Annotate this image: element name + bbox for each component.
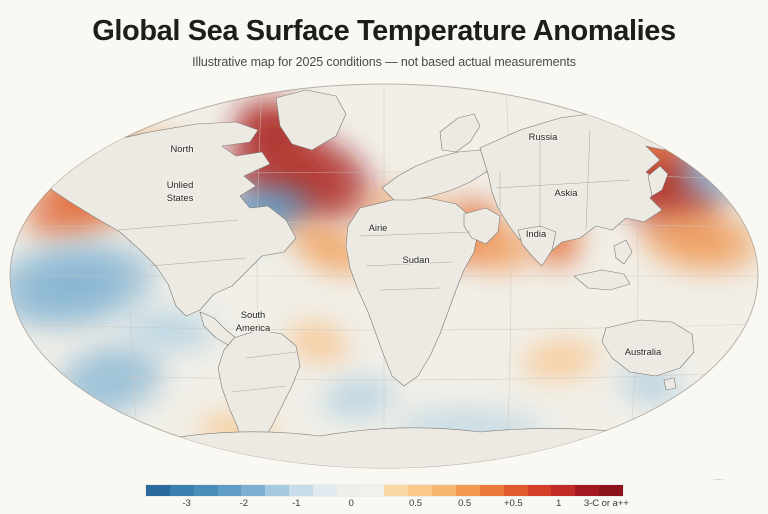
colorbar-swatch-10 <box>384 485 408 496</box>
sst-anomaly-map-page: Global Sea Surface Temperature Anomalies… <box>0 0 768 512</box>
map-label-airie: Airie <box>369 222 388 233</box>
colorbar-swatch-15 <box>504 485 528 496</box>
map-label-north: North <box>171 143 194 154</box>
map-label-states: States <box>167 192 194 203</box>
colorbar-swatch-11 <box>408 485 432 496</box>
colorbar-gradient[interactable] <box>146 485 623 496</box>
colorbar-tick-2: -1 <box>292 498 300 509</box>
colorbar-swatch-3 <box>218 485 242 496</box>
colorbar-swatch-6 <box>289 485 313 496</box>
colorbar-swatch-16 <box>528 485 552 496</box>
colorbar-swatch-19 <box>599 485 623 496</box>
legend[interactable]: -3-2-100.50.5+0.513-C or a++ <box>146 485 623 514</box>
map-label-south: South <box>241 309 266 320</box>
colorbar-swatch-8 <box>337 485 361 496</box>
map-label-sudan: Sudan <box>402 254 429 265</box>
page-subtitle: Illustrative map for 2025 conditions — n… <box>0 48 768 69</box>
map-label-unlied: Unlied <box>167 179 194 190</box>
colorbar-tick-6: +0.5 <box>504 498 523 509</box>
colorbar-swatch-17 <box>551 485 575 496</box>
colorbar-tick-3: 0 <box>348 498 353 509</box>
map-label-askia: Askia <box>555 187 579 198</box>
colorbar-swatch-18 <box>575 485 599 496</box>
map-canvas: NorthUnliedStatesSouthAmericaAirieSudanR… <box>0 80 768 480</box>
page-title: Global Sea Surface Temperature Anomalies <box>0 0 768 48</box>
colorbar-tick-8: 3-C or a++ <box>584 498 629 509</box>
colorbar-tick-0: -3 <box>182 498 190 509</box>
colorbar-tick-7: 1 <box>556 498 561 509</box>
land-antarctica <box>10 428 762 478</box>
land-new-zealand-south <box>710 378 724 396</box>
colorbar-tick-4: 0.5 <box>409 498 422 509</box>
header: Global Sea Surface Temperature Anomalies… <box>0 0 768 69</box>
colorbar-swatch-4 <box>241 485 265 496</box>
colorbar-swatch-1 <box>170 485 194 496</box>
colorbar-swatch-5 <box>265 485 289 496</box>
map-label-america: America <box>236 322 271 333</box>
map-label-russia: Russia <box>529 131 558 142</box>
colorbar-swatch-9 <box>361 485 385 496</box>
colorbar-tick-1: -2 <box>240 498 248 509</box>
colorbar-swatch-7 <box>313 485 337 496</box>
colorbar-tick-5: 0.5 <box>458 498 471 509</box>
map-label-australia: Australia <box>625 346 662 357</box>
colorbar-swatch-13 <box>456 485 480 496</box>
colorbar-swatch-2 <box>194 485 218 496</box>
land-tasmania <box>664 378 676 390</box>
colorbar-swatch-12 <box>432 485 456 496</box>
colorbar-swatch-14 <box>480 485 504 496</box>
colorbar-swatch-0 <box>146 485 170 496</box>
map-label-india: India <box>526 228 547 239</box>
world-map: NorthUnliedStatesSouthAmericaAirieSudanR… <box>0 80 768 480</box>
